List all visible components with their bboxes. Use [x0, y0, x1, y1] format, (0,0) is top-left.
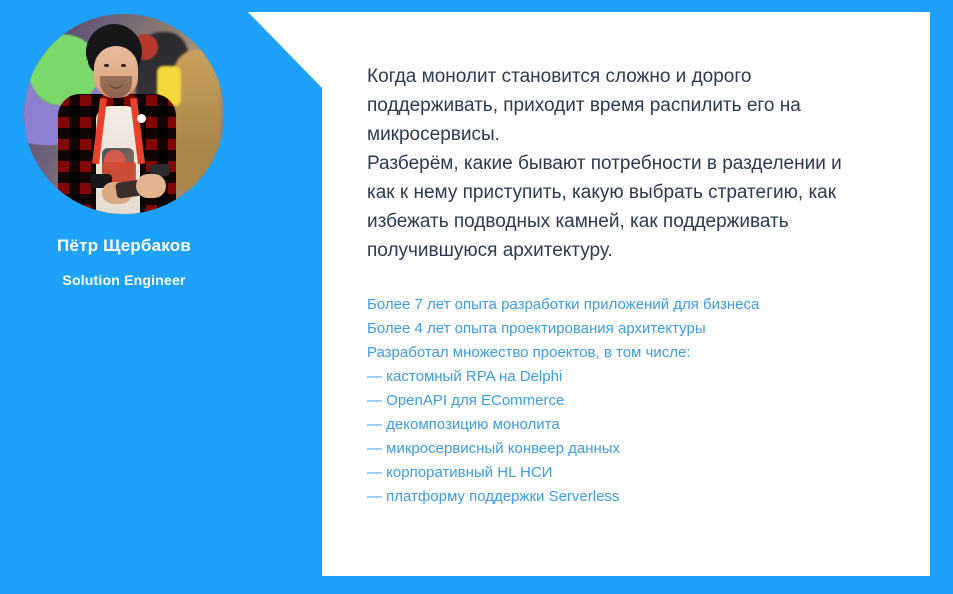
list-item: — микросервисный конвеер данных	[367, 437, 847, 461]
list-item: — кастомный RPA на Delphi	[367, 365, 847, 389]
photo-hand-right	[136, 174, 166, 198]
photo-eye-right	[121, 64, 126, 67]
list-item: Более 7 лет опыта разработки приложений …	[367, 293, 847, 317]
talk-description: Когда монолит становится сложно и дорого…	[367, 62, 847, 265]
avatar	[24, 14, 224, 214]
speaker-bio-list: Более 7 лет опыта разработки приложений …	[367, 293, 847, 509]
list-item: Более 4 лет опыта проектирования архитек…	[367, 317, 847, 341]
speaker-name: Пётр Щербаков	[0, 236, 248, 256]
list-item: — платформу поддержки Serverless	[367, 485, 847, 509]
list-item: Разработал множество проектов, в том чис…	[367, 341, 847, 365]
speaker-slide: Пётр Щербаков Solution Engineer Когда мо…	[0, 0, 953, 594]
photo-eye-left	[104, 64, 109, 67]
speaker-role: Solution Engineer	[0, 272, 248, 288]
content-card: Когда монолит становится сложно и дорого…	[248, 12, 930, 576]
content-card-inner: Когда монолит становится сложно и дорого…	[367, 62, 847, 509]
list-item: — OpenAPI для ECommerce	[367, 389, 847, 413]
speaker-column: Пётр Щербаков Solution Engineer	[0, 0, 248, 594]
photo-pin	[137, 114, 146, 123]
photo-face	[94, 46, 138, 98]
list-item: — корпоративный HL НСИ	[367, 461, 847, 485]
list-item: — декомпозицию монолита	[367, 413, 847, 437]
